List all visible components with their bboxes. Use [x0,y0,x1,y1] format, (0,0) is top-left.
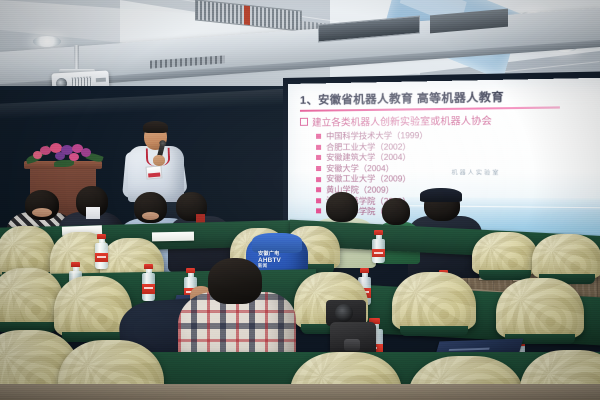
square-bullet-icon [316,187,321,192]
list-item-label: 合肥工业大学（2002） [326,142,411,152]
presenter-hand [153,155,165,166]
attendee-head [208,258,262,304]
jacket-hood [252,233,302,253]
flower-arrangement [24,141,104,167]
slide-subtitle: 建立各类机器人创新实验室或机器人协会 [312,113,492,129]
chair [532,234,600,280]
cap [420,188,462,202]
chair [392,272,476,332]
jacket-logo-text: 安徽广电 AHBTV 新闻 [258,252,306,269]
camera-lens [335,304,353,322]
square-bullet-icon [316,177,321,182]
bag-clasp [344,339,360,351]
name-badge [145,165,162,179]
square-bullet-icon [316,198,321,203]
water-bottle [142,264,155,301]
water-bottle [372,230,385,263]
presenter-hair [143,121,168,133]
chair [496,278,584,340]
list-item: 安徽工业大学（2009） [316,174,600,185]
slide-title: 1、安徽省机器人教育 高等机器人教育 [300,86,600,108]
list-item-label: 安徽工业大学（2009） [326,174,411,184]
chair [472,232,538,276]
list-item: 安徽建筑大学（2004） [316,152,600,162]
square-bullet-icon [316,155,321,160]
floor [0,384,600,400]
attendee-head [382,198,410,225]
square-bullet-icon [316,134,321,139]
square-bullet-icon [316,145,321,150]
flower [33,151,42,159]
projector-mount-pole [74,45,79,71]
square-bullet-icon [316,209,321,214]
flower [81,148,91,157]
bottle-label [142,284,155,294]
bottle-body [142,273,155,301]
shirt-collar [86,207,100,219]
bottle-body [372,239,385,263]
jacket-logo-line3: 新闻 [258,263,306,269]
slide-subtitle-row: 建立各类机器人创新实验室或机器人协会 [300,111,600,129]
flower [55,152,65,160]
leaf [54,160,74,167]
list-item-label: 中国科学技术大学（1999） [326,131,428,141]
attendee-neck [142,212,159,220]
conference-room-photo: 机器人实验室 1、安徽省机器人教育 高等机器人教育 建立各类机器人创新实验室或机… [0,0,600,400]
bottle-label [95,253,108,262]
attendee-head [326,192,358,222]
list-item: 合肥工业大学（2002） [316,141,600,152]
grille-marker [244,6,250,26]
paper-sheet [152,232,194,242]
bottle-body [95,243,108,269]
flower [69,153,79,161]
list-item-label: 安徽大学（2004） [326,164,394,174]
recessed-downlight [33,36,61,47]
list-item: 安徽大学（2004） [316,164,600,174]
bottle-label [372,249,385,257]
attendee-neck [32,208,52,217]
list-item: 中国科学技术大学（1999） [316,129,600,141]
water-bottle [95,234,108,269]
projector-badge [96,78,106,83]
hollow-square-bullet-icon [300,118,308,126]
list-item-label: 安徽建筑大学（2004） [326,153,411,163]
square-bullet-icon [316,166,321,171]
folder-emboss [449,348,490,351]
